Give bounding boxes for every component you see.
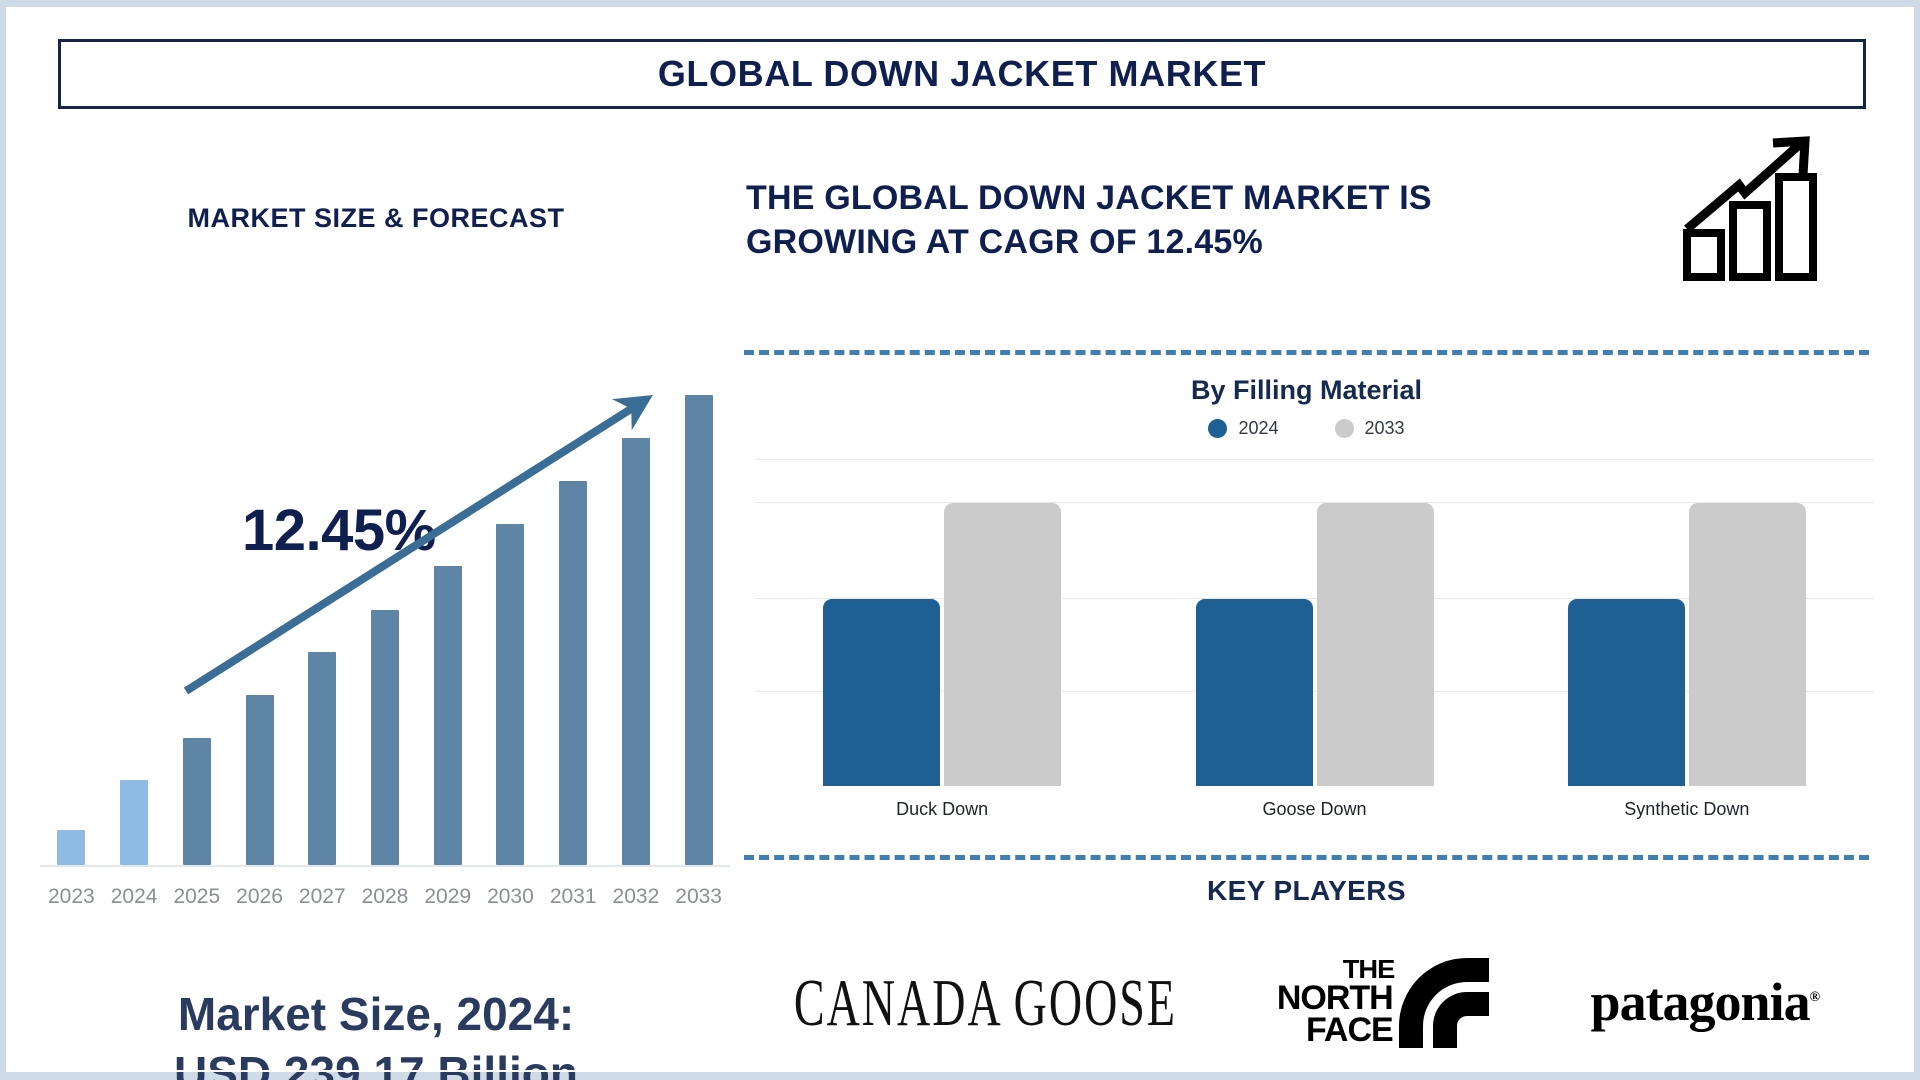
bar [496, 524, 524, 865]
forecast-bar-2028 [354, 365, 417, 865]
forecast-bar-2032 [605, 365, 668, 865]
title-banner: GLOBAL DOWN JACKET MARKET [58, 39, 1866, 109]
year-label-2033: 2033 [667, 885, 730, 909]
key-players-title: KEY PLAYERS [744, 875, 1869, 907]
left-panel: MARKET SIZE & FORECAST 12.45% 2023202420… [6, 115, 746, 1075]
year-label-2024: 2024 [103, 885, 166, 909]
legend-item-2033[interactable]: 2033 [1335, 418, 1405, 439]
patagonia-registered-mark: ® [1810, 990, 1819, 1005]
forecast-bar-2025 [165, 365, 228, 865]
bar [57, 830, 85, 865]
market-size-amount: USD 239.17 Billion [6, 1044, 746, 1080]
forecast-baseline-axis [40, 865, 730, 867]
patagonia-logo: patagonia® [1591, 942, 1820, 1062]
cagr-headline: THE GLOBAL DOWN JACKET MARKET IS GROWING… [746, 177, 1566, 264]
market-size-forecast-heading: MARKET SIZE & FORECAST [6, 203, 746, 234]
bar-2033 [1689, 503, 1806, 786]
category-label-goose-down: Goose Down [1195, 799, 1435, 820]
bar-group-goose-down [1196, 460, 1434, 786]
bar-2033 [1317, 503, 1434, 786]
bar [622, 438, 650, 865]
the-north-face-logo: THE NORTH FACE [1277, 942, 1491, 1062]
bar-group-duck-down [823, 460, 1061, 786]
divider-top [744, 350, 1869, 355]
key-players-logos: CANADA GOOSE THE NORTH FACE [744, 937, 1869, 1067]
year-label-2027: 2027 [291, 885, 354, 909]
bar [371, 610, 399, 865]
canada-goose-logo-text: CANADA GOOSE [794, 964, 1177, 1041]
bar-2033 [944, 503, 1061, 786]
filling-material-chart: Duck DownGoose DownSynthetic Down [756, 460, 1881, 820]
bar [685, 395, 713, 865]
forecast-bar-2030 [479, 365, 542, 865]
growing-bar-chart-arrow-icon [1681, 133, 1831, 283]
bar [246, 695, 274, 865]
bar [308, 652, 336, 865]
year-label-2023: 2023 [40, 885, 103, 909]
bar-2024 [1568, 599, 1685, 786]
right-panel: THE GLOBAL DOWN JACKET MARKET IS GROWING… [736, 115, 1920, 1075]
chart-legend: 20242033 [744, 418, 1869, 439]
infographic-page: GLOBAL DOWN JACKET MARKET MARKET SIZE & … [0, 0, 1920, 1080]
market-size-forecast-chart: 2023202420252026202720282029203020312032… [30, 365, 730, 971]
tnf-line-face: FACE [1306, 1014, 1393, 1046]
bar-group-synthetic-down [1568, 460, 1806, 786]
legend-label: 2024 [1238, 418, 1278, 439]
forecast-bar-2027 [291, 365, 354, 865]
year-label-2026: 2026 [228, 885, 291, 909]
market-size-label: Market Size, 2024: [6, 985, 746, 1044]
segment-title: By Filling Material [744, 375, 1869, 406]
year-label-2030: 2030 [479, 885, 542, 909]
forecast-bar-2031 [542, 365, 605, 865]
canada-goose-logo: CANADA GOOSE [794, 942, 1177, 1062]
tnf-half-dome-icon [1395, 954, 1491, 1050]
category-label-duck-down: Duck Down [822, 799, 1062, 820]
bar-2024 [1196, 599, 1313, 786]
year-label-2029: 2029 [416, 885, 479, 909]
forecast-bar-2026 [228, 365, 291, 865]
forecast-bars [40, 365, 730, 865]
bar [120, 780, 148, 865]
bar [559, 481, 587, 865]
bar [434, 566, 462, 865]
tnf-line-north: NORTH [1277, 982, 1393, 1014]
forecast-bar-2023 [40, 365, 103, 865]
divider-bottom [744, 855, 1869, 860]
bar [183, 738, 211, 865]
patagonia-logo-text: patagonia [1591, 972, 1810, 1032]
year-label-2028: 2028 [354, 885, 417, 909]
page-title: GLOBAL DOWN JACKET MARKET [658, 53, 1266, 95]
legend-item-2024[interactable]: 2024 [1208, 418, 1278, 439]
forecast-bar-2024 [103, 365, 166, 865]
year-label-2031: 2031 [542, 885, 605, 909]
tnf-line-the: THE [1342, 957, 1393, 982]
year-label-2025: 2025 [165, 885, 228, 909]
category-label-synthetic-down: Synthetic Down [1567, 799, 1807, 820]
forecast-bar-2033 [667, 365, 730, 865]
legend-swatch-icon [1208, 419, 1227, 438]
forecast-bar-2029 [416, 365, 479, 865]
bar-2024 [823, 599, 940, 786]
market-size-value: Market Size, 2024: USD 239.17 Billion [6, 985, 746, 1080]
legend-swatch-icon [1335, 419, 1354, 438]
legend-label: 2033 [1365, 418, 1405, 439]
year-label-2032: 2032 [605, 885, 668, 909]
